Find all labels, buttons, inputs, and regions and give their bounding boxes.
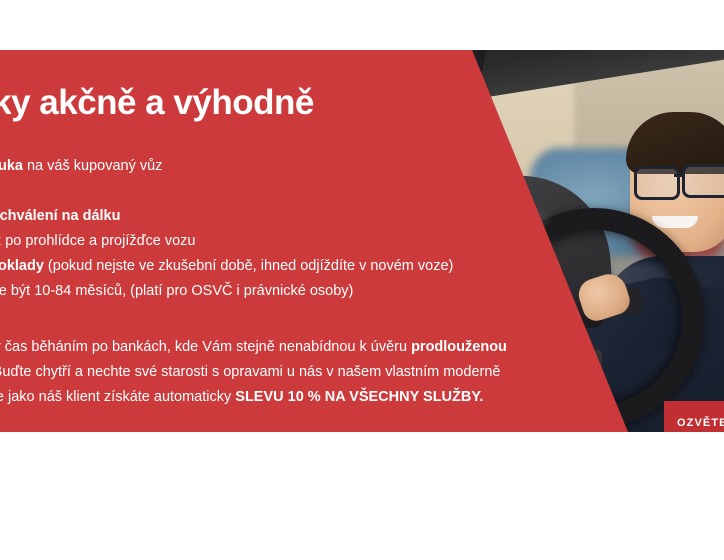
feature-line-bold: e dva doklady [0,258,44,274]
driver-glasses-left-lens [634,166,680,200]
feature-line: tek může být 10-84 měsíců, (platí pro OS… [0,279,568,304]
paragraph-line: ocenný čas běháním po bankách, kde Vám s… [0,335,594,360]
feature-line: louvy až po prohlídce a projížďce vozu [0,229,568,254]
paragraph-line: vozu! Buďte chytří a nechte své starosti… [0,360,594,385]
feature-line-text: louvy až po prohlídce a projížďce vozu [0,233,196,249]
paragraph-line-text: vozu! Buďte chytří a nechte své starosti… [0,364,500,380]
banner-headline: átky akčně a výhodně [0,83,314,123]
paragraph-line-bold: prodlouženou [411,339,507,355]
paragraph-line: isu, kde jako náš klient získáte automat… [0,385,594,410]
driver-smile [652,216,698,228]
page-root: átky akčně a výhodně ená záruka na váš k… [0,0,724,560]
feature-line-text: (pokud nejste ve zkušební době, ihned od… [44,258,453,274]
feature-line-bold: ená záruka [0,158,23,174]
feature-line: od 0 % [0,179,568,204]
driver-glasses-bridge [674,174,684,177]
banner-paragraph: ocenný čas běháním po bankách, kde Vám s… [0,335,594,410]
feature-line-text: tek může být 10-84 měsíců, (platí pro OS… [0,283,353,299]
promo-banner: átky akčně a výhodně ená záruka na váš k… [0,50,724,432]
cta-button[interactable]: OZVĚTE [664,401,724,432]
driver-glasses-right-lens [682,164,724,198]
paragraph-line-text: ocenný čas běháním po bankách, kde Vám s… [0,339,411,355]
feature-line-bold: é předschválení na dálku [0,208,120,224]
paragraph-line-bold: SLEVU 10 % NA VŠECHNY SLUŽBY. [235,389,483,405]
feature-line: é předschválení na dálku [0,204,568,229]
banner-feature-list: ená záruka na váš kupovaný vůz od 0 % é … [0,154,568,304]
feature-line: ená záruka na váš kupovaný vůz [0,154,568,179]
paragraph-line-text: isu, kde jako náš klient získáte automat… [0,389,235,405]
feature-line-text: na váš kupovaný vůz [23,158,162,174]
feature-line: e dva doklady (pokud nejste ve zkušební … [0,254,568,279]
